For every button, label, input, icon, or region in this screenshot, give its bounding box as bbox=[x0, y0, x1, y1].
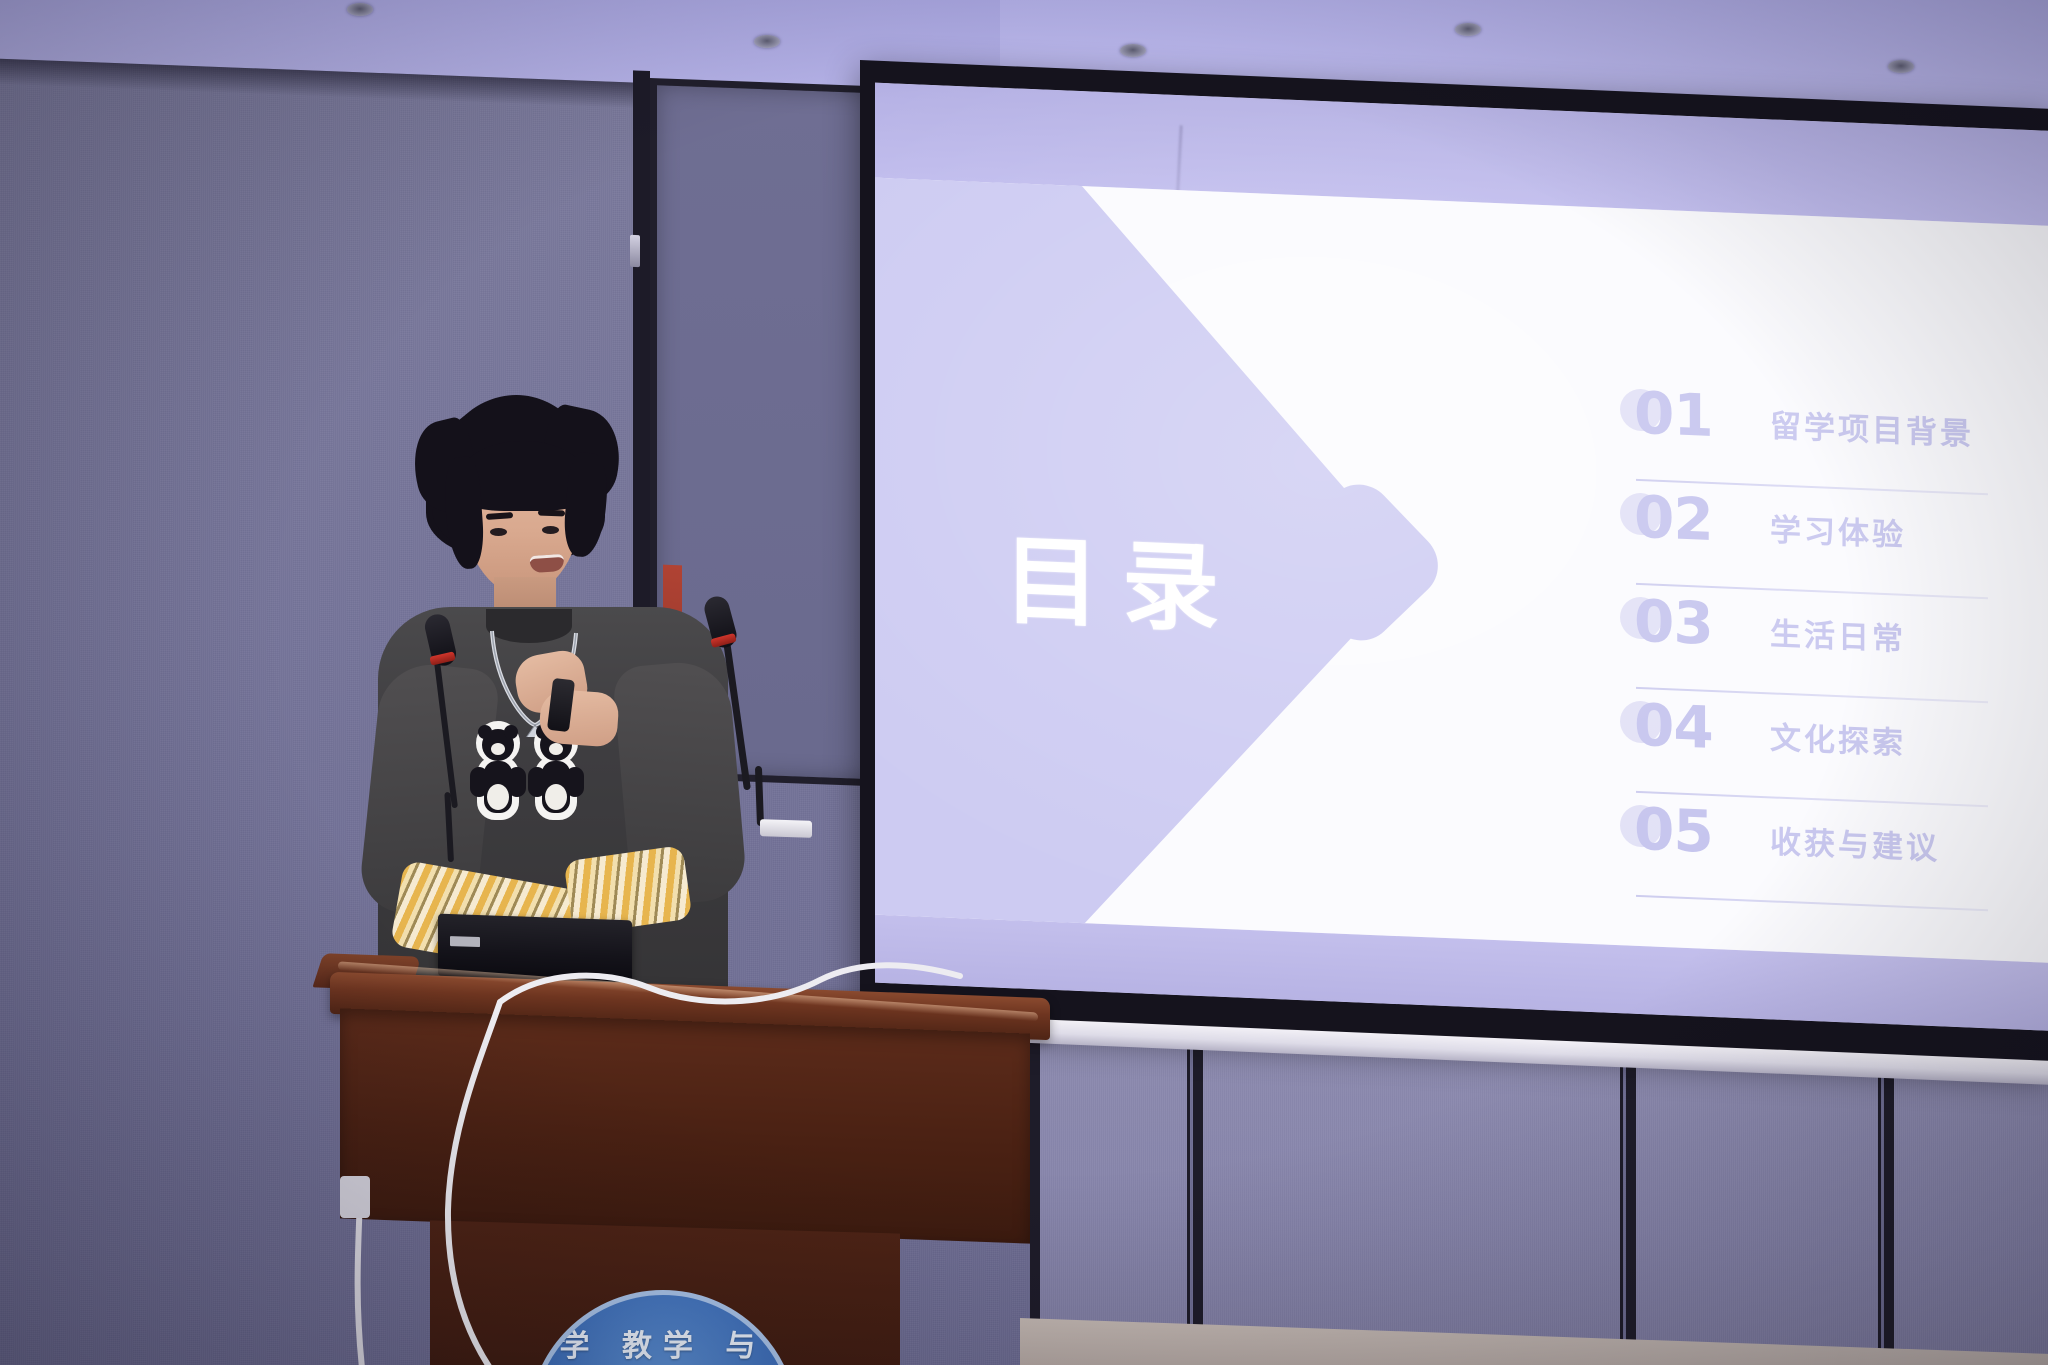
projection-screen: 目录 01 留学项目背景 02 学习体验 bbox=[860, 60, 2048, 1109]
eye-right bbox=[542, 526, 559, 534]
laptop-badge bbox=[450, 936, 480, 947]
downlight-icon bbox=[754, 35, 780, 48]
lecture-hall-scene: 目录 01 留学项目背景 02 学习体验 bbox=[0, 0, 2048, 1365]
downlight-icon bbox=[1120, 44, 1146, 57]
slide-title: 目录 bbox=[1003, 501, 1241, 652]
downlight-icon bbox=[347, 3, 373, 16]
slide-content: 目录 01 留学项目背景 02 学习体验 bbox=[875, 178, 2048, 963]
toc-number: 02 bbox=[1634, 483, 1713, 554]
podium-front-panel bbox=[340, 1008, 1030, 1243]
mic-base bbox=[760, 819, 812, 838]
toc-label: 留学项目背景 bbox=[1770, 400, 1974, 453]
downlight-icon bbox=[1888, 60, 1914, 73]
eyebrow-right bbox=[538, 510, 565, 517]
emblem-text: 学 教学 与 bbox=[533, 1321, 793, 1365]
toc-label: 收获与建议 bbox=[1770, 816, 1940, 868]
list-item[interactable]: 02 学习体验 bbox=[1620, 480, 2005, 600]
downlight-icon bbox=[1455, 23, 1481, 36]
list-item[interactable]: 03 生活日常 bbox=[1620, 584, 2005, 704]
list-item[interactable]: 04 文化探索 bbox=[1620, 688, 2005, 808]
toc-number: 03 bbox=[1634, 587, 1713, 658]
toc-number: 05 bbox=[1634, 795, 1713, 866]
toc-label: 生活日常 bbox=[1770, 608, 1906, 659]
toc-number: 01 bbox=[1634, 379, 1713, 450]
podium: 学 教学 与 bbox=[330, 985, 1050, 1365]
divider bbox=[1636, 895, 1988, 911]
table-of-contents: 01 留学项目背景 02 学习体验 03 生活日常 bbox=[1620, 376, 2005, 912]
eye-left bbox=[490, 528, 507, 536]
door-latch bbox=[630, 235, 640, 267]
toc-label: 文化探索 bbox=[1770, 712, 1906, 763]
list-item[interactable]: 05 收获与建议 bbox=[1620, 792, 2005, 912]
toc-label: 学习体验 bbox=[1770, 504, 1906, 555]
toc-number: 04 bbox=[1634, 691, 1713, 762]
list-item[interactable]: 01 留学项目背景 bbox=[1620, 376, 2005, 496]
screen-surface: 目录 01 留学项目背景 02 学习体验 bbox=[875, 83, 2048, 1031]
